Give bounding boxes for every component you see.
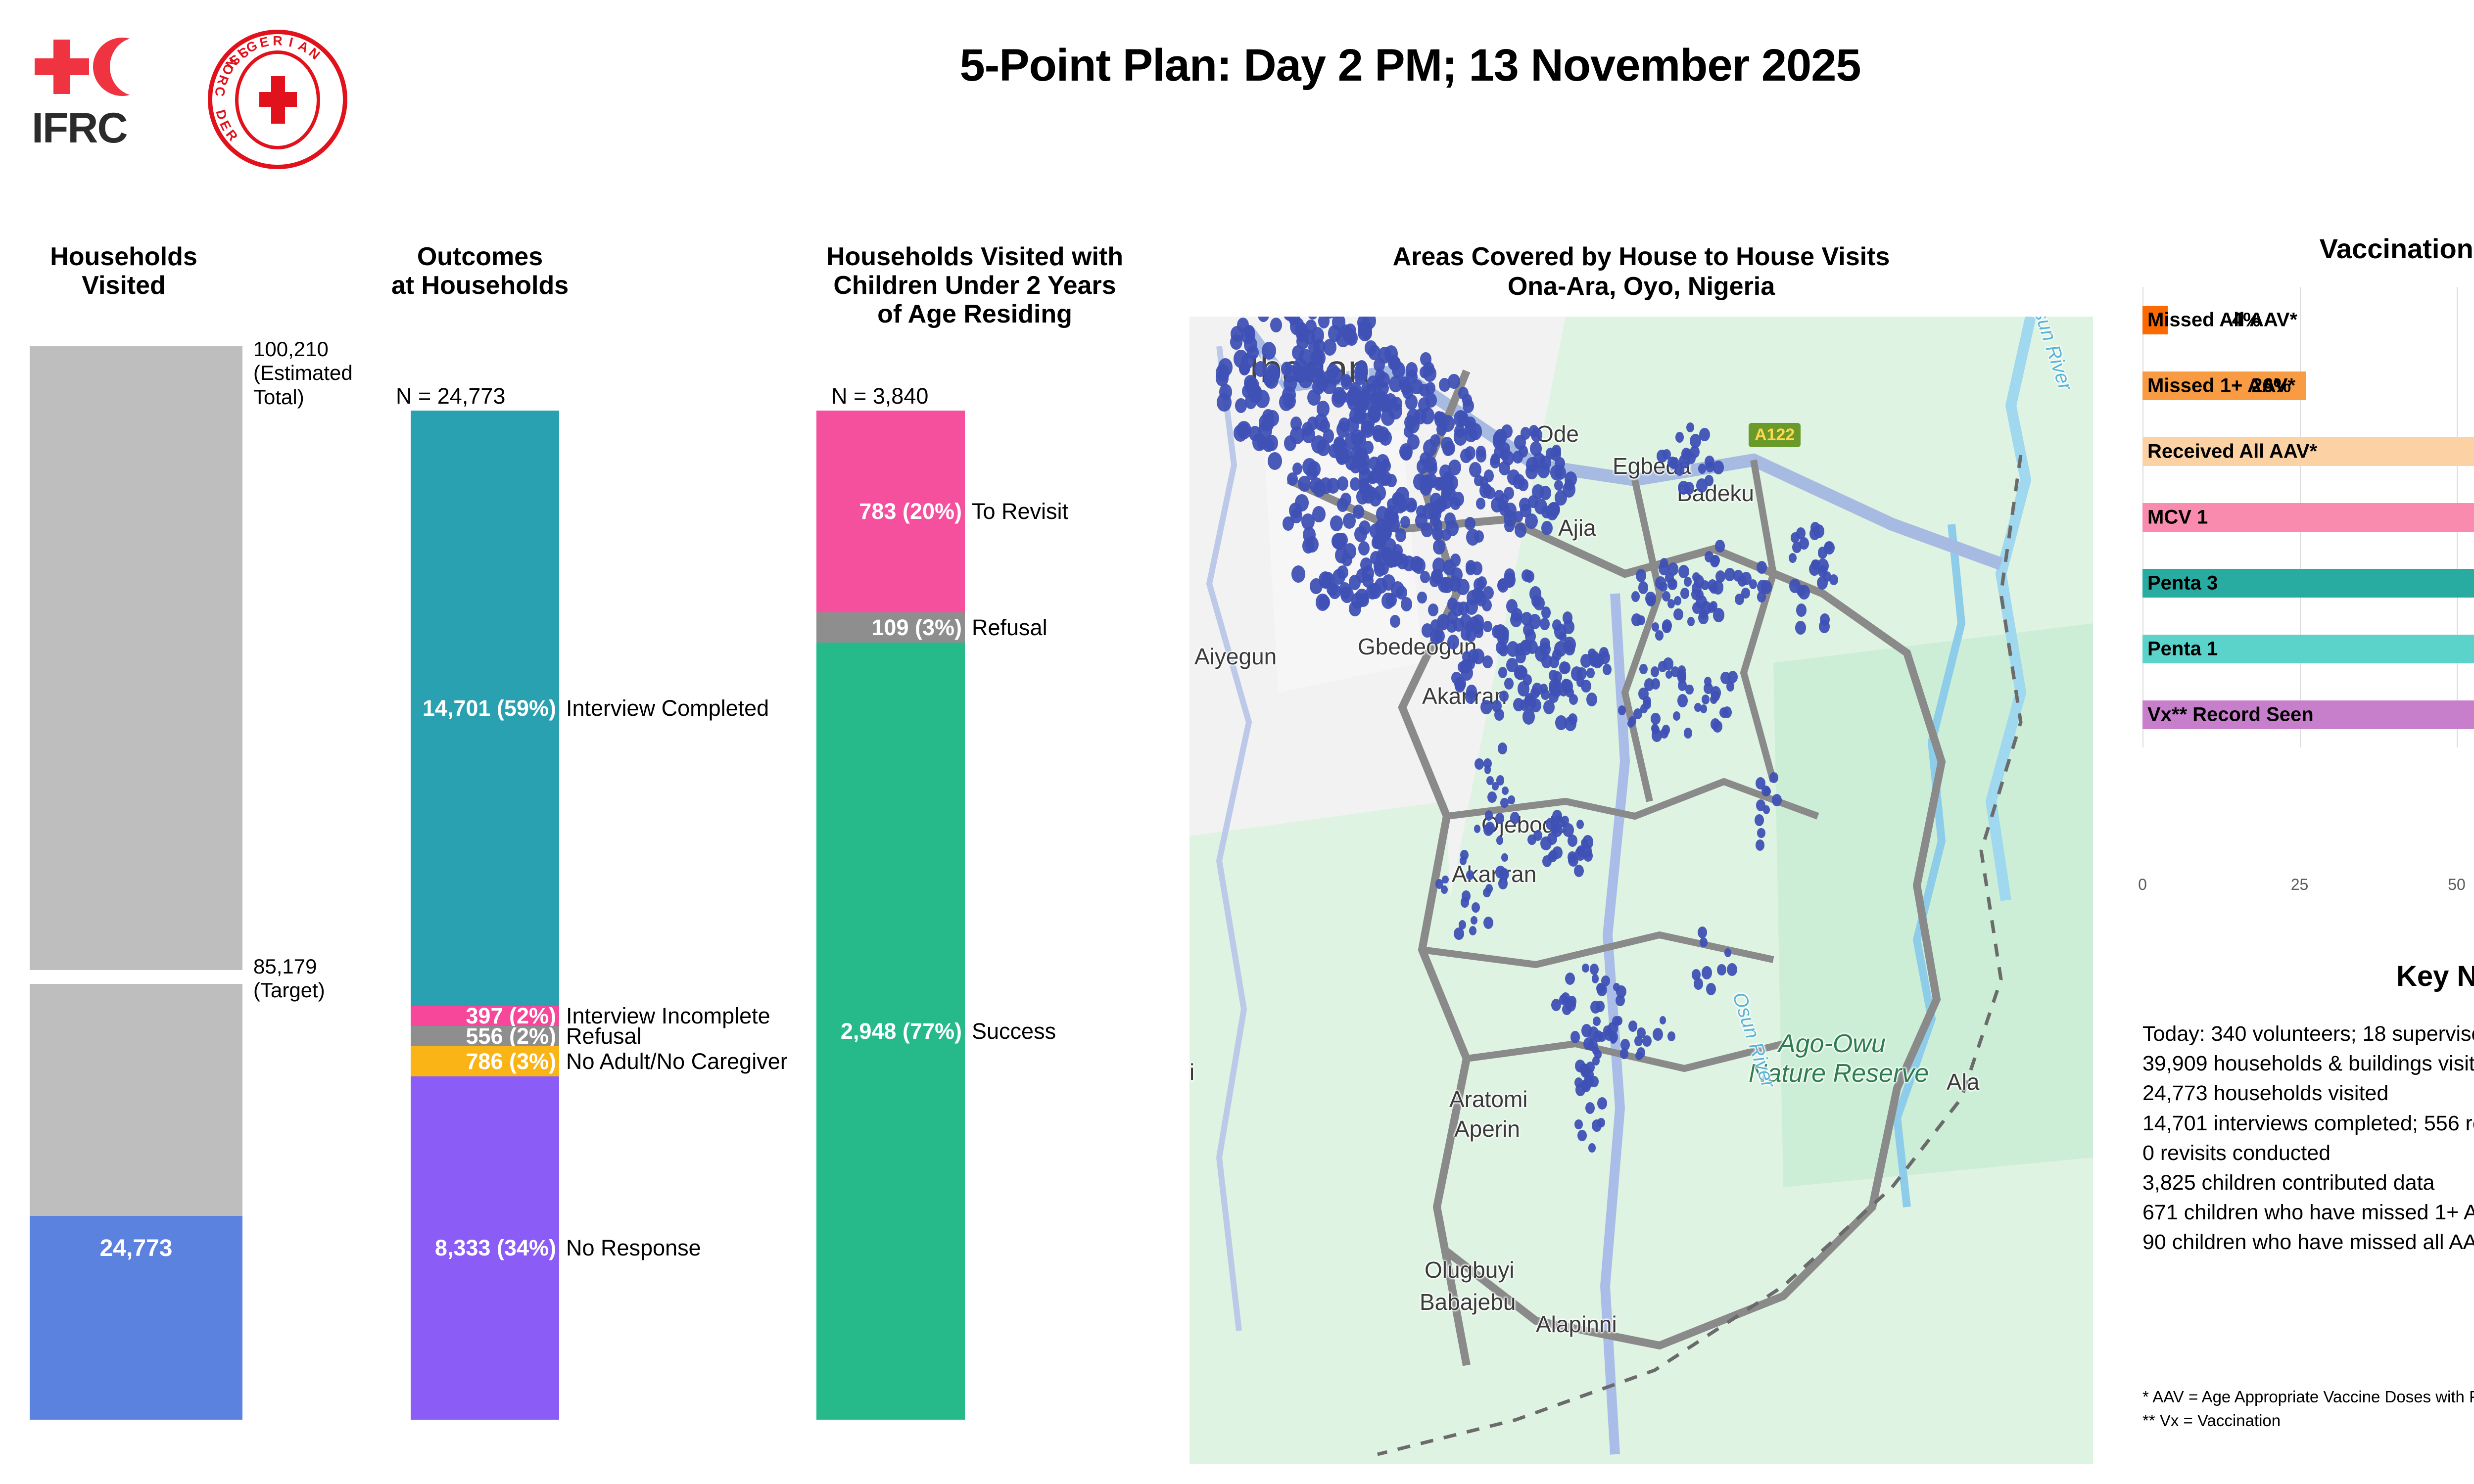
visit-point xyxy=(1696,478,1708,493)
outcomes-stacked-bar: 14,701 (59%)Interview Completed397 (2%)I… xyxy=(411,411,559,1420)
visit-point xyxy=(1403,556,1416,571)
visit-point xyxy=(1254,361,1267,376)
visit-point xyxy=(1405,394,1418,410)
visit-point xyxy=(1484,765,1491,774)
visit-point xyxy=(1484,469,1494,482)
visit-point xyxy=(1757,561,1767,574)
segment-value: 556 (2%) xyxy=(466,1023,556,1049)
coverage-bar-row[interactable]: Missed All AAV*4%N =2,602 xyxy=(2142,306,2474,334)
visit-point xyxy=(1546,818,1556,830)
visit-point xyxy=(1631,591,1640,602)
visit-point xyxy=(1651,724,1659,733)
visit-point xyxy=(1537,463,1550,478)
visit-point xyxy=(1663,449,1671,460)
visit-point xyxy=(1565,479,1574,491)
visit-point xyxy=(1658,661,1667,672)
map-place-label: Alapinni xyxy=(1536,1311,1617,1338)
estimated-total-label: 100,210 (Estimated Total) xyxy=(253,337,353,409)
visit-point xyxy=(1444,512,1456,527)
visit-point xyxy=(1582,964,1589,973)
key-number-item: 90 children who have missed all AAV* xyxy=(2142,1227,2474,1257)
visit-point xyxy=(1341,374,1352,387)
visit-point xyxy=(1480,700,1492,714)
visit-point xyxy=(1700,937,1708,947)
visit-point xyxy=(1475,758,1483,770)
visit-point xyxy=(1576,677,1585,687)
visit-point xyxy=(1316,594,1329,610)
visit-point xyxy=(1757,828,1765,838)
visit-point xyxy=(1638,688,1648,700)
children-under2-stacked-bar: 783 (20%)To Revisit109 (3%)Refusal2,948 … xyxy=(816,411,965,1420)
visit-point xyxy=(1492,782,1499,790)
coverage-bar-label: Vx** Record Seen xyxy=(2147,704,2314,726)
visit-point xyxy=(1384,509,1394,522)
visit-point xyxy=(1495,813,1504,824)
visit-point xyxy=(1717,964,1726,975)
visit-point xyxy=(1239,361,1250,375)
visit-point xyxy=(1525,629,1536,643)
visit-point xyxy=(1219,384,1232,400)
visit-point xyxy=(1525,513,1537,529)
target-label: 85,179 (Target) xyxy=(253,955,325,1003)
visit-point xyxy=(1283,516,1294,530)
visit-point xyxy=(1430,434,1440,447)
visit-point xyxy=(1651,678,1660,690)
visit-point xyxy=(1319,571,1332,589)
visit-point xyxy=(1388,554,1399,567)
visit-point xyxy=(1382,574,1395,591)
visit-point xyxy=(1336,533,1348,547)
visit-point xyxy=(1586,668,1595,678)
nigerian-red-cross-logo: NIGERIAN RED CROSS xyxy=(208,30,356,178)
segment-label: Interview Completed xyxy=(566,696,769,721)
visit-point xyxy=(1692,969,1701,980)
visit-point xyxy=(1494,446,1504,459)
segment-label: Success xyxy=(972,1019,1056,1044)
visit-point xyxy=(1380,459,1391,473)
visit-point xyxy=(1312,379,1325,394)
visit-point xyxy=(1292,345,1304,360)
footnotes: * AAV = Age Appropriate Vaccine Doses wi… xyxy=(2142,1385,2474,1433)
visit-point xyxy=(1678,565,1689,578)
visit-point xyxy=(1541,606,1551,618)
map-place-label: Aratomi xyxy=(1449,1086,1527,1113)
map-title-line-1: Areas Covered by House to House Visits xyxy=(1189,242,2093,272)
outcome-segment: 556 (2%)Refusal xyxy=(411,1026,559,1046)
visit-point xyxy=(1797,585,1806,596)
visit-point xyxy=(1356,489,1369,505)
visit-point xyxy=(1540,836,1552,850)
visit-point xyxy=(1380,471,1391,486)
header: IFRC NIGERIAN RED CROSS 5-Point Plan: Da… xyxy=(0,0,2474,198)
visit-point xyxy=(1420,571,1430,583)
key-numbers-list: Today: 340 volunteers; 18 supervisors39,… xyxy=(2142,1019,2474,1257)
visit-point xyxy=(1308,340,1320,355)
visit-point xyxy=(1487,791,1497,803)
coverage-bar-value: 4% xyxy=(2232,309,2261,331)
visit-point xyxy=(1499,494,1509,506)
visit-point xyxy=(1494,624,1506,640)
key-number-item: Today: 340 volunteers; 18 supervisors xyxy=(2142,1019,2474,1049)
visit-point xyxy=(1819,620,1830,633)
visit-point xyxy=(1763,787,1770,796)
visit-point xyxy=(1498,742,1507,754)
visit-point xyxy=(1358,593,1369,607)
visit-point xyxy=(1425,393,1437,408)
visit-point xyxy=(1460,659,1472,674)
visit-point xyxy=(1494,709,1504,721)
estimated-total-segment xyxy=(30,346,242,970)
visit-point xyxy=(1817,558,1829,573)
visit-point xyxy=(1719,707,1728,718)
visit-point xyxy=(1702,695,1710,704)
segment-value: 109 (3%) xyxy=(871,615,962,641)
map-place-label: Olugbuyi xyxy=(1425,1256,1515,1283)
visit-point xyxy=(1655,630,1663,641)
visit-point xyxy=(1483,621,1492,632)
ifrc-wordmark: IFRC xyxy=(32,104,127,153)
visit-point xyxy=(1763,805,1770,814)
map-place-label: Aperin xyxy=(1454,1115,1520,1142)
visit-point xyxy=(1628,716,1636,726)
visit-point xyxy=(1417,459,1428,474)
visit-point xyxy=(1460,449,1472,463)
visit-point xyxy=(1799,537,1809,550)
visit-point xyxy=(1332,387,1346,404)
coverage-bar-row[interactable]: Received All AAV*70%N =2,602 xyxy=(2142,437,2474,466)
visit-point xyxy=(1687,617,1695,626)
redcross-arc-text: RED CROSS xyxy=(208,30,347,169)
visit-point xyxy=(1637,615,1645,626)
coverage-bar-row[interactable]: MCV 182%N =1,870 xyxy=(2142,503,2474,532)
page-title: 5-Point Plan: Day 2 PM; 13 November 2025 xyxy=(445,40,2375,92)
footnote: * AAV = Age Appropriate Vaccine Doses wi… xyxy=(2142,1385,2474,1409)
coverage-bar-label: Penta 1 xyxy=(2147,638,2218,660)
visit-point xyxy=(1407,501,1417,512)
visit-point xyxy=(1310,477,1323,494)
visit-point xyxy=(1531,428,1542,442)
visit-point xyxy=(1396,586,1407,600)
map-place-label: Babajebu xyxy=(1420,1289,1516,1315)
visit-point xyxy=(1447,635,1459,649)
visit-point xyxy=(1610,1035,1617,1043)
x-axis-tick: 25 xyxy=(2291,876,2309,894)
segment-value: 786 (3%) xyxy=(466,1049,556,1074)
ifrc-logo: IFRC xyxy=(30,35,193,173)
coverage-bar-value: 26% xyxy=(2251,375,2291,397)
visit-point xyxy=(1646,595,1656,606)
visit-point xyxy=(1498,667,1507,678)
visit-point xyxy=(1724,948,1731,957)
coverage-bar-row[interactable]: Vx** Record Seen77%N =3,515 xyxy=(2142,700,2474,729)
visit-point xyxy=(1433,539,1445,555)
visit-point xyxy=(1652,622,1659,632)
visit-point xyxy=(1655,576,1666,590)
visit-point xyxy=(1462,890,1471,901)
outcomes-title: Outcomes at Households xyxy=(346,242,614,300)
segment-value: 8,333 (34%) xyxy=(435,1235,556,1261)
visit-point xyxy=(1330,515,1343,532)
x-axis-tick: 50 xyxy=(2448,876,2466,894)
visit-point xyxy=(1541,689,1549,700)
visit-point xyxy=(1423,503,1435,519)
visit-point xyxy=(1354,370,1367,385)
visit-point xyxy=(1692,572,1700,582)
coverage-bar-label: Penta 3 xyxy=(2147,572,2218,595)
visit-point xyxy=(1466,870,1474,880)
outcomes-n-label: N = 24,773 xyxy=(396,383,505,409)
children-segment: 783 (20%)To Revisit xyxy=(816,411,965,612)
visit-point xyxy=(1522,569,1532,582)
visit-point xyxy=(1500,798,1509,808)
visit-point xyxy=(1472,561,1482,575)
coverage-bar-row[interactable]: Penta 195%N =2,602 xyxy=(2142,635,2474,663)
visit-point xyxy=(1590,964,1599,975)
visit-point xyxy=(1671,666,1679,677)
visit-point xyxy=(1465,690,1476,704)
visit-point xyxy=(1829,574,1838,585)
households-visited-title: Households Visited xyxy=(10,242,238,300)
visit-point xyxy=(1577,1130,1587,1141)
key-number-item: 24,773 households visited xyxy=(2142,1078,2474,1108)
road-shield-icon: A122 xyxy=(1749,423,1801,447)
visit-point xyxy=(1400,516,1410,528)
map-place-label: Ajia xyxy=(1558,514,1596,541)
visit-point xyxy=(1474,530,1484,543)
visit-point xyxy=(1565,716,1576,731)
key-number-item: 14,701 interviews completed; 556 refusal… xyxy=(2142,1109,2474,1138)
visit-point xyxy=(1733,570,1743,582)
visit-point xyxy=(1494,429,1507,445)
children-segment: 109 (3%)Refusal xyxy=(816,612,965,643)
visit-point xyxy=(1438,577,1450,593)
visit-point xyxy=(1653,1028,1663,1041)
visit-point xyxy=(1460,850,1469,860)
visit-point xyxy=(1448,374,1460,389)
visit-point xyxy=(1432,557,1445,574)
visit-point xyxy=(1720,672,1730,684)
visit-point xyxy=(1824,541,1835,555)
visit-point xyxy=(1363,394,1377,411)
visit-point xyxy=(1369,457,1380,470)
visit-point xyxy=(1485,884,1493,893)
segment-label: No Response xyxy=(566,1235,701,1261)
visit-point xyxy=(1337,498,1348,511)
visit-point xyxy=(1375,519,1387,534)
visit-point xyxy=(1508,795,1515,804)
segment-label: Refusal xyxy=(566,1023,642,1049)
visit-point xyxy=(1547,502,1560,518)
visit-point xyxy=(1713,720,1722,733)
visit-point xyxy=(1581,1080,1591,1092)
key-number-item: 671 children who have missed 1+ AAV* xyxy=(2142,1198,2474,1227)
visit-point xyxy=(1673,608,1683,620)
visit-point xyxy=(1532,484,1544,499)
target-segment xyxy=(30,984,242,1216)
visited-segment: 24,773 xyxy=(30,1216,242,1420)
visit-point xyxy=(1442,876,1448,883)
visit-point xyxy=(1675,432,1684,443)
visit-point xyxy=(1499,691,1509,702)
visit-point xyxy=(1673,711,1680,721)
red-crescent-icon xyxy=(93,38,151,96)
map-title: Areas Covered by House to House Visits O… xyxy=(1189,242,2093,302)
visit-point xyxy=(1588,1143,1596,1152)
visit-point xyxy=(1504,678,1514,690)
visit-point xyxy=(1501,853,1508,862)
footnote: ** Vx = Vaccination xyxy=(2142,1409,2474,1433)
visit-point xyxy=(1691,589,1700,600)
visit-point xyxy=(1660,558,1668,568)
segment-label: No Adult/No Caregiver xyxy=(566,1049,788,1074)
coverage-chart-xaxis: 0255075100% xyxy=(2142,876,2474,905)
visit-point xyxy=(1597,1097,1607,1110)
map-place-label: Aiyegun xyxy=(1194,643,1277,670)
visit-point xyxy=(1335,547,1348,563)
visit-point xyxy=(1592,974,1599,983)
visit-point xyxy=(1533,830,1542,841)
visit-point xyxy=(1668,562,1678,575)
visit-point xyxy=(1757,591,1766,603)
visit-point xyxy=(1216,364,1230,381)
visit-point xyxy=(1476,446,1486,458)
visit-point xyxy=(1569,694,1578,705)
visit-point xyxy=(1581,1024,1592,1037)
visit-point xyxy=(1282,386,1296,404)
visit-point xyxy=(1504,519,1515,532)
map-title-line-2: Ona-Ara, Oyo, Nigeria xyxy=(1189,272,2093,302)
visit-point xyxy=(1483,917,1493,929)
visit-point xyxy=(1702,966,1712,979)
visit-point xyxy=(1398,500,1407,512)
visit-point xyxy=(1518,681,1530,696)
visit-point xyxy=(1376,391,1388,407)
children-segment: 2,948 (77%)Success xyxy=(816,643,965,1420)
visit-point xyxy=(1400,446,1412,461)
segment-value: 2,948 (77%) xyxy=(841,1019,962,1044)
visit-point xyxy=(1565,640,1573,650)
visit-point xyxy=(1817,576,1828,590)
visit-point xyxy=(1513,474,1525,489)
visit-point xyxy=(1343,513,1356,529)
visit-point xyxy=(1727,963,1737,976)
visit-point xyxy=(1434,629,1445,643)
map-place-label: Ode xyxy=(1536,420,1579,447)
visit-point xyxy=(1755,814,1764,826)
visit-point xyxy=(1551,999,1561,1011)
visit-point xyxy=(1570,1031,1580,1043)
visit-point xyxy=(1698,927,1707,938)
visit-point xyxy=(1813,524,1825,538)
visit-point xyxy=(1323,429,1334,443)
key-numbers-title: Key Numbers xyxy=(2142,960,2474,993)
visit-point xyxy=(1603,664,1612,675)
visited-value: 24,773 xyxy=(100,1235,173,1262)
outcome-segment: 14,701 (59%)Interview Completed xyxy=(411,411,559,1006)
visit-point xyxy=(1592,1119,1602,1132)
visit-point xyxy=(1593,1017,1600,1026)
visit-point xyxy=(1530,687,1539,698)
visit-point xyxy=(1358,324,1372,341)
visit-point xyxy=(1651,713,1660,725)
visit-point xyxy=(1264,371,1279,389)
visit-point xyxy=(1513,451,1523,464)
visit-point xyxy=(1290,426,1304,444)
visit-point xyxy=(1628,1020,1637,1032)
map-place-label: Ala xyxy=(1947,1068,1979,1095)
visit-point xyxy=(1441,437,1453,452)
visit-point xyxy=(1502,451,1514,465)
visit-point xyxy=(1540,618,1550,630)
visit-point xyxy=(1392,362,1405,378)
coverage-bar-row[interactable]: Penta 380%N =2,384 xyxy=(2142,569,2474,598)
visit-point xyxy=(1498,878,1508,889)
visit-point xyxy=(1592,1046,1599,1055)
visit-point xyxy=(1662,619,1672,632)
visit-point xyxy=(1550,447,1561,461)
segment-label: Refusal xyxy=(972,615,1047,641)
visit-point xyxy=(1769,772,1778,783)
visit-point xyxy=(1741,588,1750,599)
visit-point xyxy=(1713,461,1724,474)
visit-point xyxy=(1302,538,1315,554)
visit-point xyxy=(1465,417,1476,431)
visit-point xyxy=(1662,725,1670,735)
visit-point xyxy=(1374,562,1385,577)
red-cross-icon xyxy=(35,40,89,94)
visit-point xyxy=(1789,553,1797,563)
visit-point xyxy=(1510,612,1522,627)
visit-point xyxy=(1482,484,1492,496)
map-place-label: i xyxy=(1189,1059,1194,1085)
coverage-map[interactable]: A122 IbadanOdeEgbedaBadekuAjiaAiyegunGbe… xyxy=(1189,317,2093,1464)
visit-point xyxy=(1356,452,1370,468)
x-axis-tick: 0 xyxy=(2138,876,2147,894)
visit-point xyxy=(1795,621,1806,635)
visit-point xyxy=(1706,462,1714,472)
coverage-bar-label: MCV 1 xyxy=(2147,507,2208,529)
visit-point xyxy=(1698,464,1706,474)
visit-point xyxy=(1337,476,1348,491)
coverage-bar-row[interactable]: Missed 1+ AAV*26%N =2,602 xyxy=(2142,371,2474,400)
visit-point xyxy=(1574,1119,1583,1130)
visit-point xyxy=(1370,470,1380,483)
coverage-bar-label: Missed All AAV* xyxy=(2147,309,2297,331)
visit-point xyxy=(1440,493,1453,509)
households-visited-bar: 24,773 100,210 (Estimated Total) 85,179 … xyxy=(30,346,242,1420)
visit-point xyxy=(1772,794,1782,806)
visit-point xyxy=(1592,654,1603,668)
visit-point xyxy=(1529,586,1541,601)
visit-point xyxy=(1581,838,1588,848)
visit-point xyxy=(1234,424,1247,442)
visit-point xyxy=(1708,579,1717,592)
visit-point xyxy=(1540,638,1550,650)
visit-point xyxy=(1336,448,1346,461)
visit-point xyxy=(1454,677,1466,691)
visit-point xyxy=(1312,506,1326,523)
visit-point xyxy=(1518,666,1527,678)
visit-point xyxy=(1706,983,1716,995)
map-place-label: Ago-Owu xyxy=(1778,1029,1886,1059)
visit-point xyxy=(1498,579,1507,590)
visit-point xyxy=(1465,517,1475,530)
visit-point xyxy=(1496,836,1503,844)
outcome-segment: 8,333 (34%)No Response xyxy=(411,1076,559,1420)
visit-point xyxy=(1420,480,1432,496)
visit-point xyxy=(1476,498,1485,510)
visit-point xyxy=(1340,587,1354,603)
